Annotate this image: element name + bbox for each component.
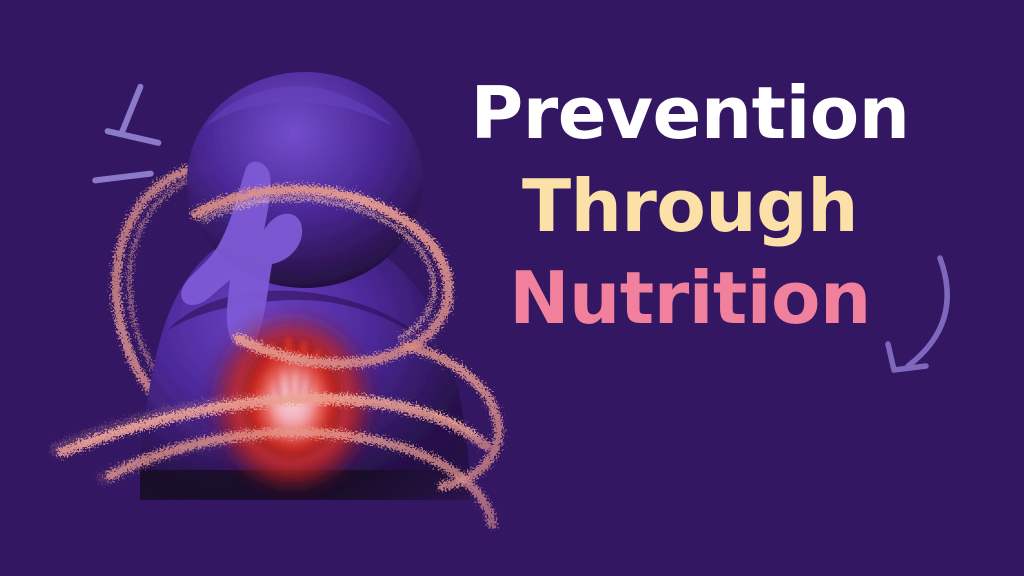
curved-down-left-arrow-icon <box>862 248 972 388</box>
headline-line-prevention: Prevention <box>430 78 950 149</box>
headline-line-through: Through <box>430 171 950 242</box>
slide-canvas: Prevention Through Nutrition <box>0 0 1024 576</box>
